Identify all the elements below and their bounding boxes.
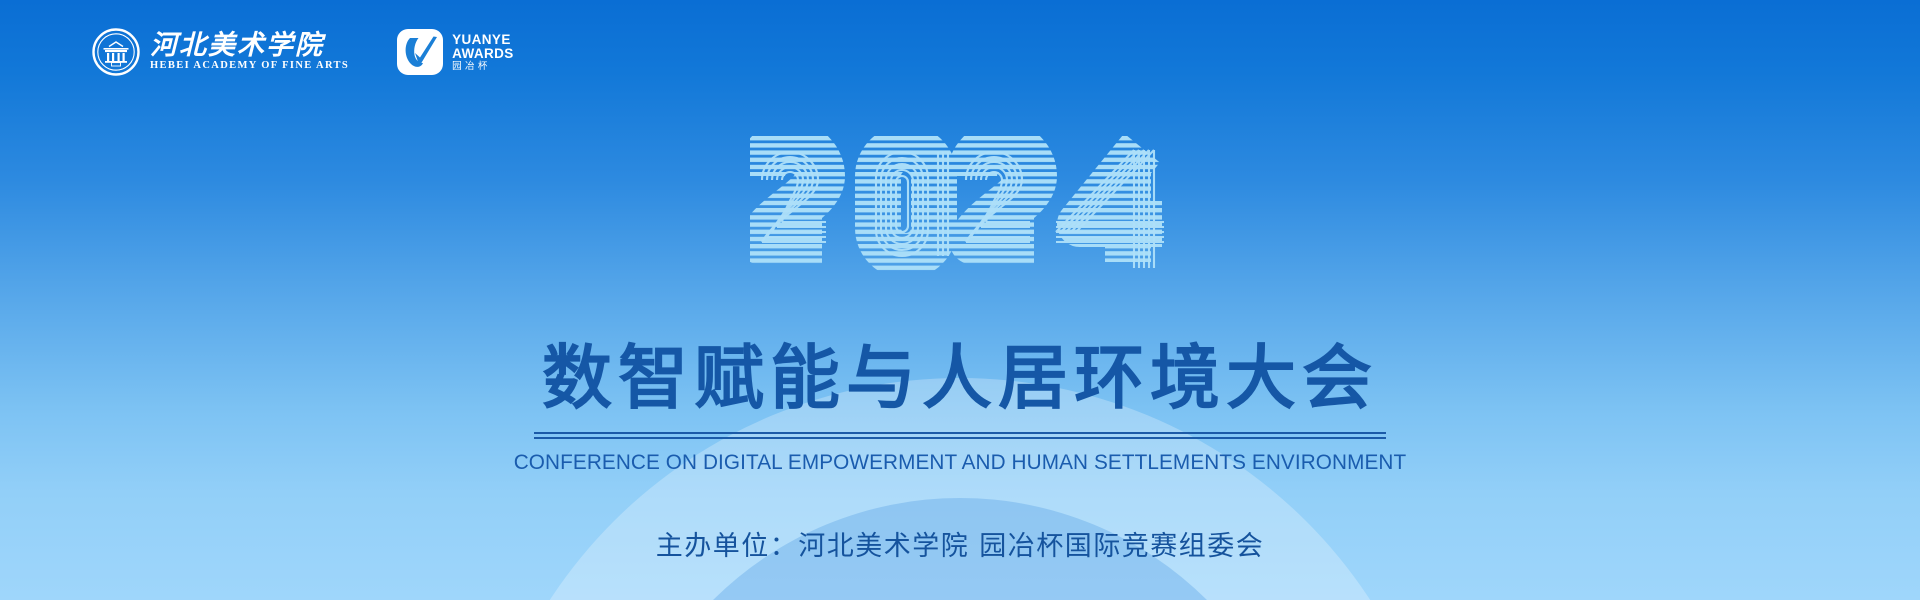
logo-bar: 河北美术学院 HEBEI ACADEMY OF FINE ARTS YUANYE… <box>92 28 514 76</box>
hebei-academy-logo: 河北美术学院 HEBEI ACADEMY OF FINE ARTS <box>92 28 349 76</box>
yuanye-awards-logo: YUANYE AWARDS 园冶杯 <box>397 29 514 75</box>
organiser-text: 主办单位：河北美术学院 园冶杯国际竞赛组委会 <box>0 530 1920 564</box>
hebei-name-cn: 河北美术学院 <box>150 32 349 59</box>
divider-line-bottom <box>534 437 1386 439</box>
hebei-name-en: HEBEI ACADEMY OF FINE ARTS <box>150 61 349 72</box>
conference-banner: 河北美术学院 HEBEI ACADEMY OF FINE ARTS YUANYE… <box>0 0 1920 600</box>
hebei-wordmark: 河北美术学院 HEBEI ACADEMY OF FINE ARTS <box>150 32 349 72</box>
page-subtitle: CONFERENCE ON DIGITAL EMPOWERMENT AND HU… <box>34 449 1887 475</box>
title-divider <box>534 432 1386 439</box>
university-seal-icon <box>92 28 140 76</box>
divider-line-top <box>534 432 1386 434</box>
yuanye-line-2: AWARDS <box>452 47 514 60</box>
year-graphic-2024: 2024 <box>750 136 1170 276</box>
yuanye-wordmark: YUANYE AWARDS 园冶杯 <box>452 33 514 72</box>
headline-block: 数智赋能与人居环境大会 CONFERENCE ON DIGITAL EMPOWE… <box>0 338 1920 475</box>
yuanye-name-cn: 园冶杯 <box>452 61 514 72</box>
yuanye-line-1: YUANYE <box>452 33 514 46</box>
page-title: 数智赋能与人居环境大会 <box>0 338 1920 418</box>
yuanye-leaf-mark-icon <box>397 29 443 75</box>
